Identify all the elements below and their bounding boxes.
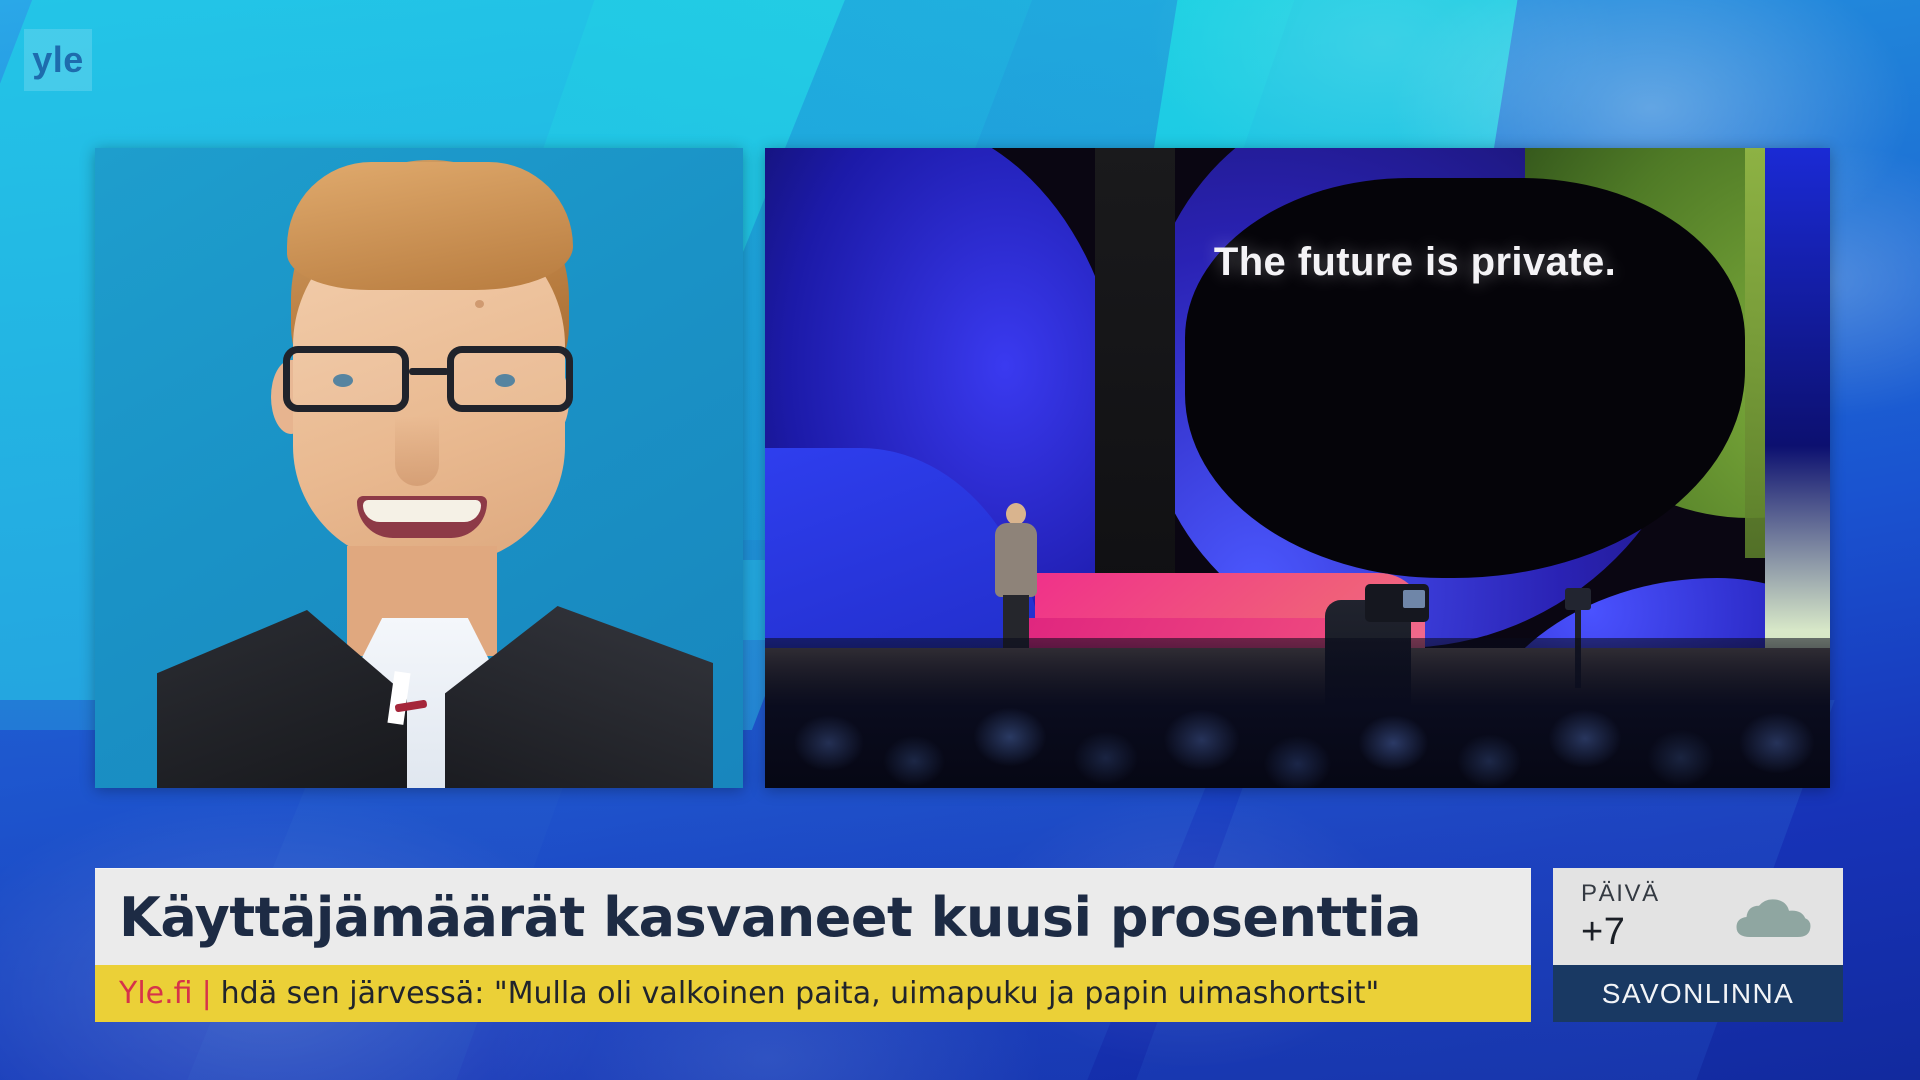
stage-side-panel-right bbox=[1765, 148, 1830, 698]
weather-widget: PÄIVÄ +7 SAVONLINNA bbox=[1553, 868, 1843, 1022]
ticker-headline-text: hdä sen järvessä: "Mulla oli valkoinen p… bbox=[221, 976, 1380, 1011]
weather-readings-panel: PÄIVÄ +7 bbox=[1553, 868, 1843, 965]
speaker-body bbox=[995, 523, 1037, 597]
stage-monitor-head bbox=[1565, 588, 1591, 610]
weather-period-label: PÄIVÄ bbox=[1581, 882, 1660, 906]
ticker-source-label: Yle.fi bbox=[119, 976, 193, 1011]
speaker-head bbox=[1006, 503, 1026, 525]
weather-location-panel: SAVONLINNA bbox=[1553, 965, 1843, 1022]
weather-temperature: +7 bbox=[1581, 913, 1660, 951]
glasses-lens-right bbox=[447, 346, 573, 412]
camera-screen bbox=[1403, 590, 1425, 608]
glasses-bridge bbox=[409, 368, 449, 375]
yle-logo-icon: yle bbox=[24, 29, 92, 91]
audience-crowd bbox=[765, 638, 1830, 788]
guest-portrait bbox=[95, 148, 743, 788]
portrait-glasses-icon bbox=[279, 346, 579, 418]
headline-text: Käyttäjämäärät kasvaneet kuusi prosentti… bbox=[119, 886, 1421, 949]
portrait-teeth bbox=[363, 500, 481, 522]
lower-third: Käyttäjämäärät kasvaneet kuusi prosentti… bbox=[95, 868, 1531, 1022]
glasses-lens-left bbox=[283, 346, 409, 412]
weather-readings: PÄIVÄ +7 bbox=[1581, 882, 1660, 951]
headline-bar: Käyttäjämäärät kasvaneet kuusi prosentti… bbox=[95, 868, 1531, 965]
cloud-icon bbox=[1731, 891, 1817, 943]
portrait-nose bbox=[395, 416, 439, 486]
stage-speaker bbox=[993, 503, 1039, 653]
ticker-separator: | bbox=[202, 976, 212, 1011]
portrait-fringe bbox=[287, 162, 573, 290]
news-ticker-bar: Yle.fi | hdä sen järvessä: "Mulla oli va… bbox=[95, 965, 1531, 1022]
conference-video-feed: The future is private. bbox=[765, 148, 1830, 788]
weather-location-text: SAVONLINNA bbox=[1602, 978, 1794, 1010]
slide-headline-text: The future is private. bbox=[1095, 240, 1735, 285]
channel-logo-text: yle bbox=[32, 42, 84, 78]
portrait-mole bbox=[475, 300, 484, 308]
portrait-mouth bbox=[357, 496, 487, 538]
